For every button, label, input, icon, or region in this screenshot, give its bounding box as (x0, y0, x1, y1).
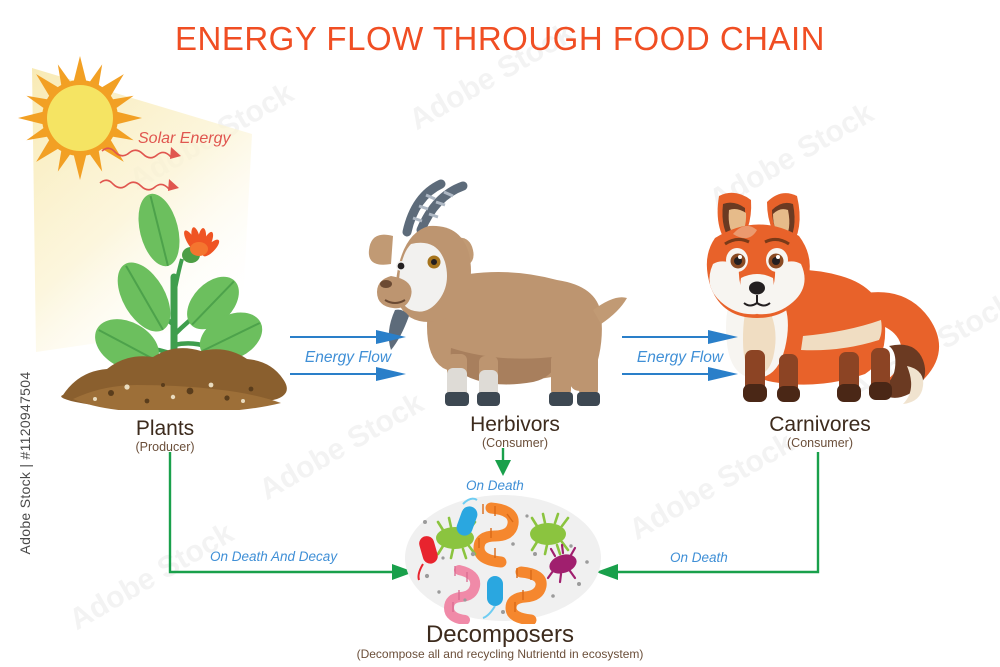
diagram-canvas: Adobe Stock Adobe Stock Adobe Stock Adob… (0, 0, 1000, 667)
cycle-label-plants-death-decay: On Death And Decay (210, 549, 337, 564)
cycle-label-herbivors-death: On Death (466, 478, 524, 493)
arrow-down-icon (495, 448, 511, 476)
stock-credit-watermark: Adobe Stock | #1120947504 (17, 353, 33, 573)
cycle-label-carnivores-death: On Death (670, 550, 728, 565)
node-name-decomposers: Decomposers (280, 622, 720, 648)
microbes-icon (403, 492, 603, 624)
node-label-decomposers: Decomposers (Decompose all and recycling… (280, 622, 720, 661)
node-role-decomposers: (Decompose all and recycling Nutrientd i… (280, 648, 720, 661)
